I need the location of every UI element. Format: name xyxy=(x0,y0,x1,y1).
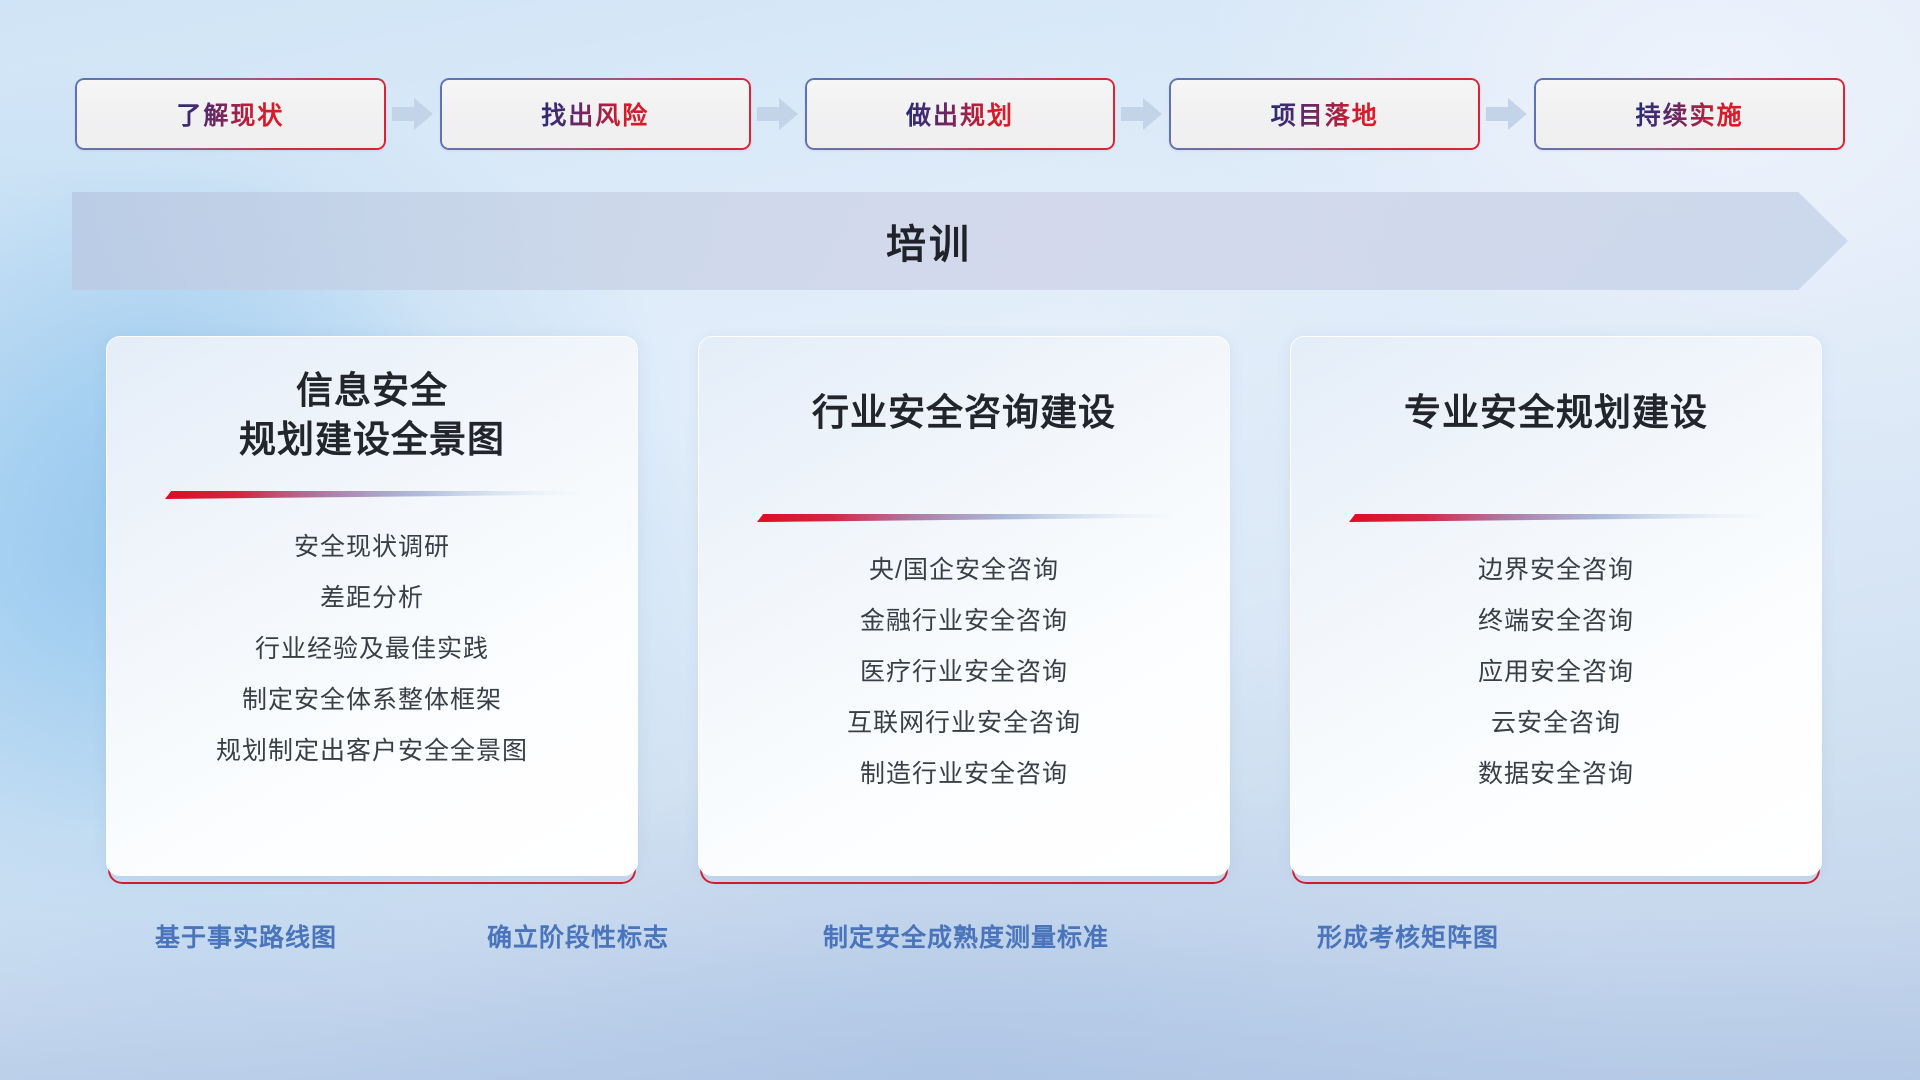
step-box-1[interactable]: 了解现状 xyxy=(75,78,386,150)
card-1-title: 信息安全 规划建设全景图 xyxy=(107,367,637,465)
step-box-5[interactable]: 持续实施 xyxy=(1534,78,1845,150)
list-item: 边界安全咨询 xyxy=(1478,545,1634,596)
card-1-list: 安全现状调研 差距分析 行业经验及最佳实践 制定安全体系整体框架 规划制定出客户… xyxy=(107,522,637,777)
card-2-title-line-1: 行业安全咨询建设 xyxy=(719,389,1209,438)
card-2-title: 行业安全咨询建设 xyxy=(699,389,1229,438)
card-2-wrapper: 行业安全咨询建设 xyxy=(698,336,1230,876)
step-label-4: 项目落地 xyxy=(1271,96,1379,132)
list-item: 医疗行业安全咨询 xyxy=(860,647,1068,698)
step-label-1: 了解现状 xyxy=(176,96,284,132)
card-1[interactable]: 信息安全 规划建设全景图 xyxy=(106,336,638,876)
card-3[interactable]: 专业安全规划建设 xyxy=(1290,336,1822,876)
card-3-list: 边界安全咨询 终端安全咨询 应用安全咨询 云安全咨询 数据安全咨询 xyxy=(1291,545,1821,800)
card-2[interactable]: 行业安全咨询建设 xyxy=(698,336,1230,876)
step-box-3[interactable]: 做出规划 xyxy=(805,78,1116,150)
list-item: 金融行业安全咨询 xyxy=(860,596,1068,647)
training-banner: 培训 xyxy=(72,192,1848,290)
list-item: 央/国企安全咨询 xyxy=(869,545,1059,596)
card-3-divider xyxy=(1349,510,1762,523)
card-2-list: 央/国企安全咨询 金融行业安全咨询 医疗行业安全咨询 互联网行业安全咨询 制造行… xyxy=(699,545,1229,800)
list-item: 云安全咨询 xyxy=(1491,698,1621,749)
bottom-label-1: 基于事实路线图 xyxy=(155,918,337,954)
arrow-right-icon xyxy=(751,95,805,133)
card-3-title-line-1: 专业安全规划建设 xyxy=(1311,389,1801,438)
list-item: 安全现状调研 xyxy=(294,522,450,573)
bottom-label-4: 形成考核矩阵图 xyxy=(1317,918,1499,954)
list-item: 数据安全咨询 xyxy=(1478,749,1634,800)
card-3-title: 专业安全规划建设 xyxy=(1291,389,1821,438)
bottom-label-3: 制定安全成熟度测量标准 xyxy=(823,918,1109,954)
list-item: 终端安全咨询 xyxy=(1478,596,1634,647)
step-label-5: 持续实施 xyxy=(1636,96,1744,132)
card-1-title-line-2: 规划建设全景图 xyxy=(127,416,617,465)
list-item: 规划制定出客户安全全景图 xyxy=(216,726,528,777)
arrow-right-icon xyxy=(1115,95,1169,133)
step-box-2[interactable]: 找出风险 xyxy=(440,78,751,150)
card-2-divider xyxy=(757,510,1170,523)
bottom-label-2: 确立阶段性标志 xyxy=(487,918,669,954)
step-box-4[interactable]: 项目落地 xyxy=(1169,78,1480,150)
list-item: 互联网行业安全咨询 xyxy=(847,698,1081,749)
card-1-wrapper: 信息安全 规划建设全景图 xyxy=(106,336,638,876)
list-item: 制造行业安全咨询 xyxy=(860,749,1068,800)
list-item: 行业经验及最佳实践 xyxy=(255,624,489,675)
bottom-label-row: 基于事实路线图 确立阶段性标志 制定安全成熟度测量标准 形成考核矩阵图 xyxy=(0,918,1920,960)
step-label-3: 做出规划 xyxy=(906,96,1014,132)
card-1-divider xyxy=(165,487,578,500)
card-1-title-line-1: 信息安全 xyxy=(127,367,617,416)
list-item: 差距分析 xyxy=(320,573,424,624)
step-label-2: 找出风险 xyxy=(541,96,649,132)
process-step-row: 了解现状 找出风险 做出规划 项目落地 持续实施 xyxy=(0,78,1920,150)
card-row: 信息安全 规划建设全景图 xyxy=(106,336,1822,876)
list-item: 应用安全咨询 xyxy=(1478,647,1634,698)
arrow-right-icon xyxy=(386,95,440,133)
arrow-right-icon xyxy=(1480,95,1534,133)
list-item: 制定安全体系整体框架 xyxy=(242,675,502,726)
banner-title: 培训 xyxy=(72,192,1848,290)
card-3-wrapper: 专业安全规划建设 xyxy=(1290,336,1822,876)
